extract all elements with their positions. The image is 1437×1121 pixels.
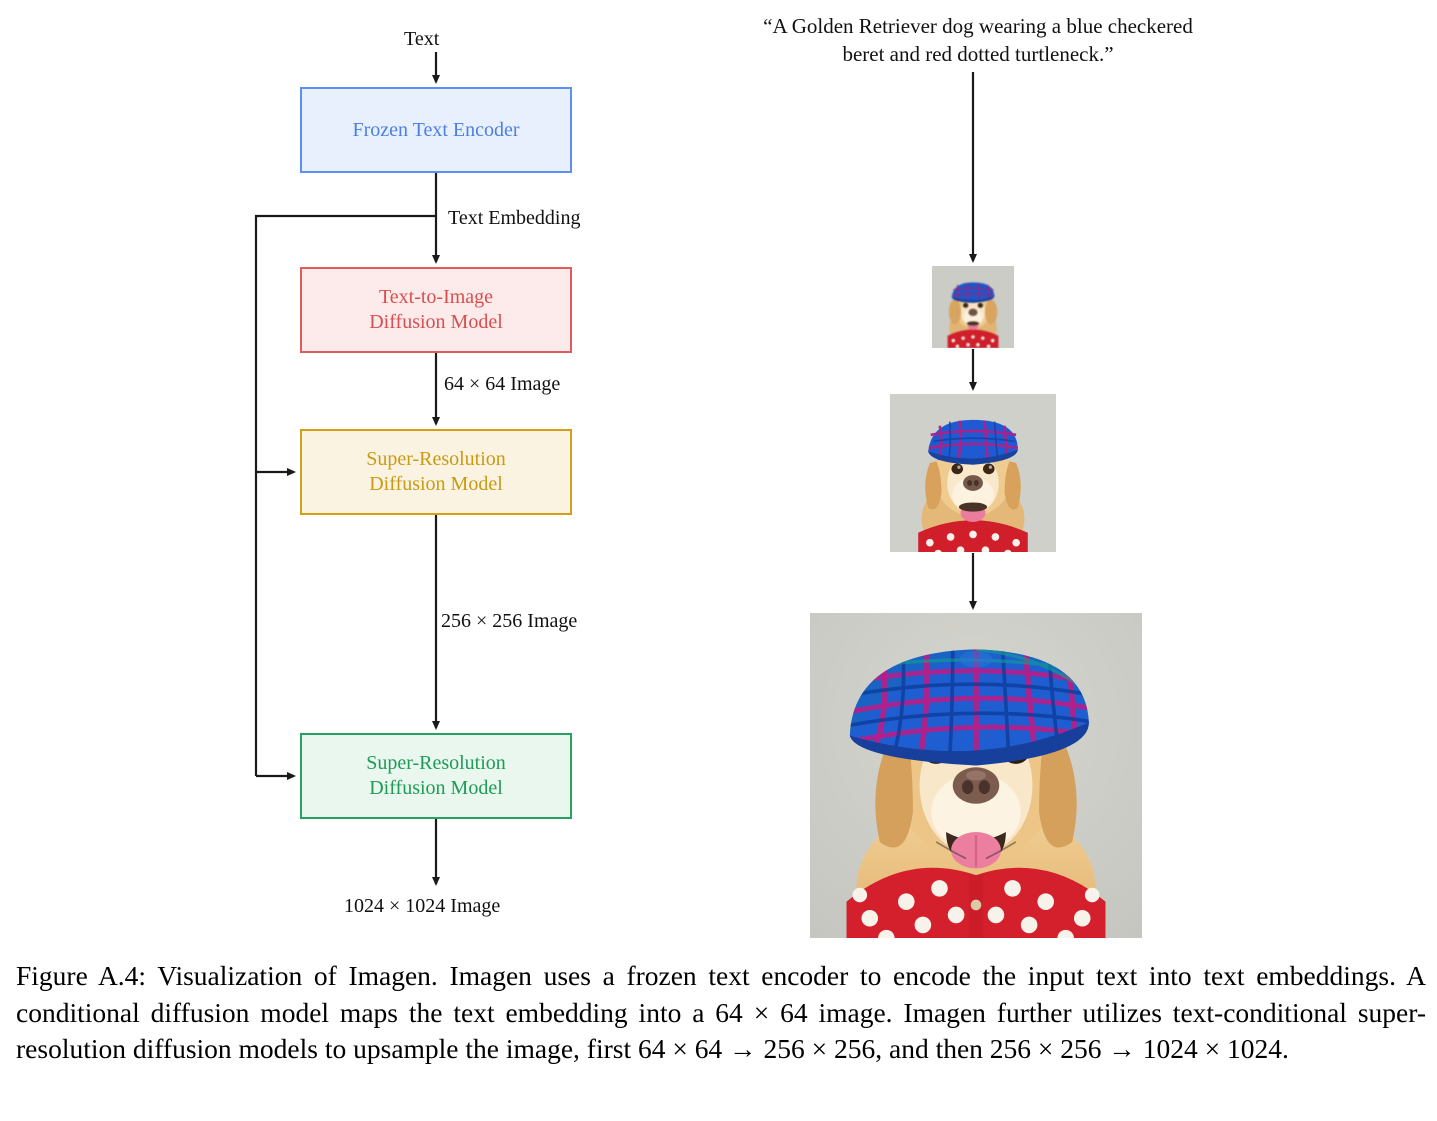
box-super-resolution-1-label: Super-Resolution Diffusion Model bbox=[366, 447, 506, 497]
box-super-resolution-2-label: Super-Resolution Diffusion Model bbox=[366, 751, 506, 801]
generated-image-64 bbox=[932, 266, 1014, 348]
box-frozen-text-encoder-label: Frozen Text Encoder bbox=[352, 118, 519, 143]
label-image-1024: 1024 × 1024 Image bbox=[344, 895, 500, 918]
box-super-resolution-diffusion-model-2[interactable]: Super-Resolution Diffusion Model bbox=[300, 733, 572, 819]
box-super-resolution-diffusion-model-1[interactable]: Super-Resolution Diffusion Model bbox=[300, 429, 572, 515]
label-input-text: Text bbox=[404, 28, 439, 51]
box-text-to-image-diffusion-model[interactable]: Text-to-Image Diffusion Model bbox=[300, 267, 572, 353]
sample-prompt-text: “A Golden Retriever dog wearing a blue c… bbox=[760, 12, 1196, 69]
label-text-embedding: Text Embedding bbox=[448, 207, 580, 230]
diagram-connectors bbox=[0, 0, 1437, 1121]
figure-caption: Figure A.4: Visualization of Imagen. Ima… bbox=[16, 958, 1426, 1068]
box-frozen-text-encoder[interactable]: Frozen Text Encoder bbox=[300, 87, 572, 173]
box-text-to-image-label: Text-to-Image Diffusion Model bbox=[369, 285, 503, 335]
generated-image-1024 bbox=[810, 613, 1142, 938]
figure-page: Text Frozen Text Encoder Text Embedding … bbox=[0, 0, 1437, 1121]
generated-image-256 bbox=[890, 394, 1056, 552]
label-image-256: 256 × 256 Image bbox=[441, 610, 577, 633]
label-image-64: 64 × 64 Image bbox=[444, 373, 560, 396]
